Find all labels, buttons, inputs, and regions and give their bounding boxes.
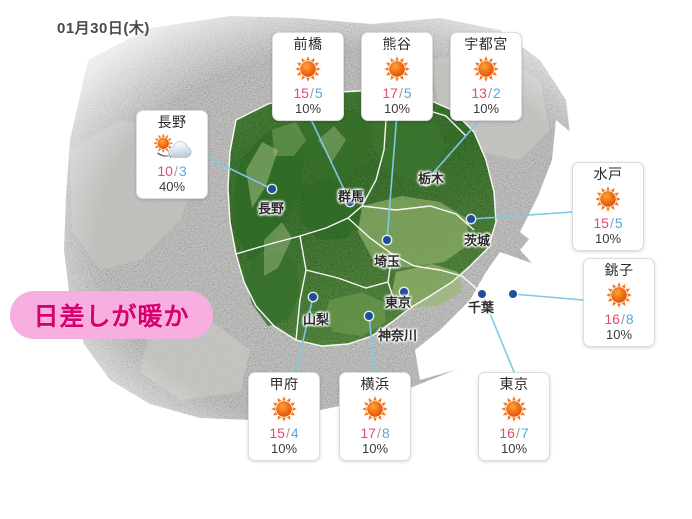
sun-icon — [472, 55, 500, 83]
high-temp: 16 — [499, 425, 515, 441]
weather-card-tokyo[interactable]: 東京16/710% — [478, 372, 550, 461]
sun-disc — [478, 61, 494, 77]
sun-ray — [404, 72, 409, 76]
map-marker-dot[interactable] — [467, 215, 475, 223]
map-marker-dot[interactable] — [383, 236, 391, 244]
sun-ray — [362, 407, 366, 411]
sun-ray — [493, 63, 498, 67]
sun-ray — [597, 202, 602, 206]
weather-card-city: 宇都宮 — [464, 36, 508, 53]
sun-ray — [480, 76, 484, 81]
weather-card-temps: 16/7 — [499, 425, 528, 441]
sun-ray — [606, 293, 610, 297]
sun-ray — [493, 72, 498, 76]
low-temp: 5 — [404, 85, 412, 101]
weather-card-city: 長野 — [158, 114, 187, 131]
headline-banner: 日差しが暖か — [10, 291, 213, 339]
sun-ray — [154, 145, 158, 148]
weather-card-temps: 15/4 — [269, 425, 298, 441]
precipitation-probability: 40% — [159, 179, 185, 194]
low-temp: 5 — [315, 85, 323, 101]
precipitation-probability: 10% — [295, 101, 321, 116]
sun-ray — [395, 56, 399, 60]
sun-ray — [508, 416, 512, 421]
high-temp: 17 — [360, 425, 376, 441]
low-temp: 5 — [615, 215, 623, 231]
sun-disc — [389, 61, 405, 77]
pref-label-群馬: 群馬 — [338, 186, 364, 205]
sun-ray — [282, 418, 286, 422]
low-temp: 8 — [382, 425, 390, 441]
sun-ray — [501, 407, 505, 411]
map-marker-dot[interactable] — [365, 312, 373, 320]
high-temp: 17 — [382, 85, 398, 101]
weather-icon-wrap — [472, 54, 500, 84]
sun-ray — [295, 67, 299, 71]
sun-ray — [615, 202, 620, 206]
weather-icon-wrap — [605, 280, 633, 310]
sun-ray — [521, 412, 526, 416]
precipitation-probability: 10% — [384, 101, 410, 116]
sun-ray — [626, 298, 631, 302]
sun-ray — [595, 197, 599, 201]
weather-card-temps: 10/3 — [157, 163, 186, 179]
sun-ray — [484, 56, 488, 60]
low-temp: 3 — [179, 163, 187, 179]
pref-label-山梨: 山梨 — [303, 309, 329, 328]
weather-icon-wrap — [594, 184, 622, 214]
sun-ray — [273, 403, 278, 407]
weather-icon-wrap — [294, 54, 322, 84]
sun-ray — [162, 150, 165, 154]
pref-label-千葉: 千葉 — [468, 297, 494, 316]
sun-ray — [608, 298, 613, 302]
low-temp: 7 — [521, 425, 529, 441]
headline-text: 日差しが暖か — [33, 297, 189, 333]
high-temp: 15 — [293, 85, 309, 101]
sun-icon — [594, 185, 622, 213]
sun-ray — [278, 398, 282, 403]
sun-ray — [364, 412, 369, 416]
sun-ray — [158, 135, 161, 139]
sun-ray — [602, 206, 606, 211]
sun-icon — [500, 395, 528, 423]
sun-ray — [317, 67, 321, 71]
sun-ray — [608, 289, 613, 293]
sun-ray — [484, 78, 488, 82]
sun-ray — [503, 412, 508, 416]
sun-disc — [157, 138, 168, 149]
sun-ray — [384, 67, 388, 71]
pref-label-神奈川: 神奈川 — [378, 325, 417, 344]
precipitation-probability: 10% — [501, 441, 527, 456]
sun-ray — [386, 63, 391, 67]
sun-ray — [311, 76, 315, 81]
sun-ray — [302, 58, 306, 63]
sun-ray — [306, 78, 310, 82]
low-temp: 4 — [291, 425, 299, 441]
sun-ray — [364, 403, 369, 407]
weather-card-yokohama[interactable]: 横浜17/810% — [339, 372, 411, 461]
sun-ray — [613, 284, 617, 289]
weather-card-city: 甲府 — [270, 376, 299, 393]
pref-label-茨城: 茨城 — [464, 230, 490, 249]
sun-ray — [597, 193, 602, 197]
weather-card-maebashi[interactable]: 前橋15/510% — [272, 32, 344, 121]
weather-icon-wrap — [500, 394, 528, 424]
high-temp: 16 — [604, 311, 620, 327]
high-temp: 15 — [593, 215, 609, 231]
sun-ray — [271, 407, 275, 411]
sun-icon — [383, 55, 411, 83]
high-temp: 10 — [157, 163, 173, 179]
sun-ray — [315, 63, 320, 67]
sun-disc — [276, 401, 292, 417]
precipitation-probability: 10% — [595, 231, 621, 246]
sun-ray — [287, 416, 291, 421]
sun-ray — [613, 302, 617, 307]
sun-ray — [297, 63, 302, 67]
pref-label-栃木: 栃木 — [418, 168, 444, 187]
sun-ray — [311, 58, 315, 63]
map-marker-dot[interactable] — [268, 185, 276, 193]
map-marker-dot[interactable] — [309, 293, 317, 301]
weather-card-city: 銚子 — [605, 262, 634, 279]
sun-ray — [404, 63, 409, 67]
weather-card-temps: 17/5 — [382, 85, 411, 101]
sun-ray — [473, 67, 477, 71]
sun-ray — [165, 148, 168, 152]
weather-card-temps: 15/5 — [593, 215, 622, 231]
sun-ray — [523, 407, 527, 411]
sun-ray — [517, 398, 521, 403]
sun-ray — [626, 289, 631, 293]
sun-ray — [622, 284, 626, 289]
sun-ray — [378, 416, 382, 421]
sun-ray — [373, 396, 377, 400]
map-marker-dot[interactable] — [509, 290, 517, 298]
sun-disc — [506, 401, 522, 417]
low-temp: 2 — [493, 85, 501, 101]
sun-ray — [291, 412, 296, 416]
sun-ray — [606, 208, 610, 212]
sun-ray — [291, 403, 296, 407]
sun-ray — [293, 407, 297, 411]
weather-card-city: 水戸 — [594, 166, 623, 183]
weather-card-kumagaya[interactable]: 熊谷17/510% — [361, 32, 433, 121]
sun-ray — [369, 416, 373, 421]
sun-ray — [168, 138, 172, 141]
sun-ray — [378, 398, 382, 403]
sun-ray — [395, 78, 399, 82]
sun-disc — [367, 401, 383, 417]
precipitation-probability: 10% — [606, 327, 632, 342]
sun-ray — [369, 398, 373, 403]
weather-card-city: 熊谷 — [383, 36, 412, 53]
weather-card-temps: 16/8 — [604, 311, 633, 327]
sun-ray — [512, 396, 516, 400]
sun-ray — [489, 58, 493, 63]
pref-label-東京: 東京 — [385, 292, 411, 311]
precipitation-probability: 10% — [362, 441, 388, 456]
sun-ray — [512, 418, 516, 422]
sun-ray — [153, 142, 157, 145]
weather-icon-wrap — [361, 394, 389, 424]
weather-card-temps: 13/2 — [471, 85, 500, 101]
weather-map-screen: 01月30日(木) 日差しが暖か 長野群馬栃木埼玉茨城山梨東京千葉神奈川 前橋1… — [0, 0, 692, 519]
sun-ray — [622, 302, 626, 307]
sun-ray — [602, 188, 606, 193]
sun-ray — [154, 138, 158, 141]
weather-card-city: 前橋 — [294, 36, 323, 53]
sun-ray — [475, 63, 480, 67]
weather-card-temps: 17/8 — [360, 425, 389, 441]
sun-ray — [628, 293, 632, 297]
sun-ray — [373, 418, 377, 422]
weather-card-nagano[interactable]: 長野10/340% — [136, 110, 208, 199]
weather-card-kofu[interactable]: 甲府15/410% — [248, 372, 320, 461]
sun-ray — [273, 412, 278, 416]
sun-ray — [606, 186, 610, 190]
sun-ray — [306, 56, 310, 60]
sun-ray — [521, 403, 526, 407]
sun-icon — [294, 55, 322, 83]
weather-card-utsunomiya[interactable]: 宇都宮13/210% — [450, 32, 522, 121]
sun-ray — [382, 412, 387, 416]
sun-ray — [503, 403, 508, 407]
weather-card-choshi[interactable]: 銚子16/810% — [583, 258, 655, 347]
sun-ray — [406, 67, 410, 71]
sun-ray — [617, 282, 621, 286]
sun-ray — [489, 76, 493, 81]
sun-ray — [617, 304, 621, 308]
weather-card-city: 東京 — [500, 376, 529, 393]
precipitation-probability: 10% — [271, 441, 297, 456]
cloud-shape — [168, 141, 191, 157]
weather-icon-wrap — [383, 54, 411, 84]
sun-ray — [517, 416, 521, 421]
sun-ray — [508, 398, 512, 403]
sun-ray — [480, 58, 484, 63]
sun-icon — [605, 281, 633, 309]
sun-ray — [302, 76, 306, 81]
sun-ray — [617, 197, 621, 201]
sun-ray — [391, 76, 395, 81]
sun-icon — [270, 395, 298, 423]
sun-ray — [611, 188, 615, 193]
sun-ray — [315, 72, 320, 76]
sun-ray — [169, 142, 173, 145]
pref-label-長野: 長野 — [258, 198, 284, 217]
sun-disc — [300, 61, 316, 77]
weather-icon-wrap — [270, 394, 298, 424]
sun-ray — [287, 398, 291, 403]
date-header: 01月30日(木) — [57, 17, 150, 38]
sun-ray — [165, 135, 168, 139]
sun-ray — [391, 58, 395, 63]
weather-icon-wrap — [152, 132, 193, 162]
sun-ray — [386, 72, 391, 76]
sun-icon — [361, 395, 389, 423]
sun-ray — [495, 67, 499, 71]
sun-ray — [400, 58, 404, 63]
sun-ray — [384, 407, 388, 411]
sun-ray — [400, 76, 404, 81]
weather-card-temps: 15/5 — [293, 85, 322, 101]
sun-behind-cloud-icon — [152, 132, 193, 162]
sun-ray — [297, 72, 302, 76]
weather-card-city: 横浜 — [361, 376, 390, 393]
sun-disc — [611, 287, 627, 303]
sun-disc — [600, 191, 616, 207]
sun-ray — [611, 206, 615, 211]
high-temp: 13 — [471, 85, 487, 101]
pref-label-埼玉: 埼玉 — [374, 251, 400, 270]
sun-ray — [158, 148, 161, 152]
precipitation-probability: 10% — [473, 101, 499, 116]
weather-card-mito[interactable]: 水戸15/510% — [572, 162, 644, 251]
sun-ray — [382, 403, 387, 407]
sun-ray — [475, 72, 480, 76]
sun-ray — [282, 396, 286, 400]
low-temp: 8 — [626, 311, 634, 327]
sun-ray — [615, 193, 620, 197]
sun-ray — [162, 133, 165, 137]
sun-ray — [278, 416, 282, 421]
high-temp: 15 — [269, 425, 285, 441]
